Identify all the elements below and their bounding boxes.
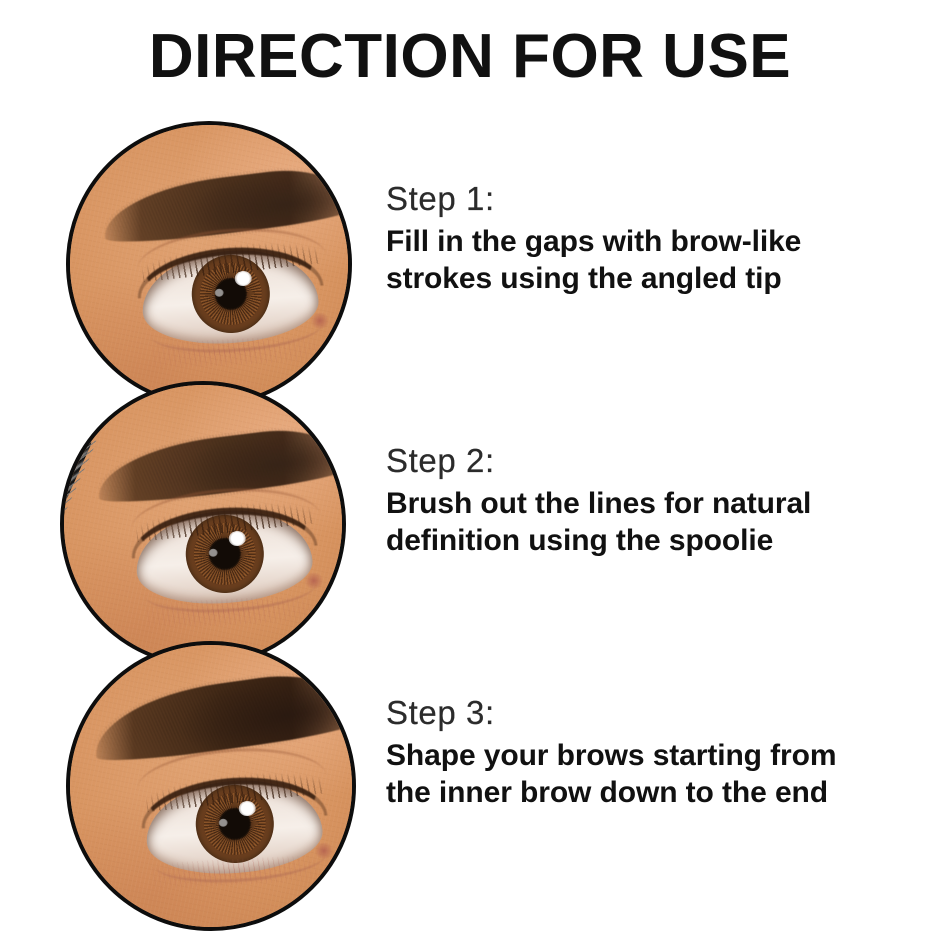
- step-3-text-block: Step 3: Shape your brows starting from t…: [386, 693, 906, 812]
- step-3-label: Step 3:: [386, 693, 906, 733]
- eye: [139, 245, 321, 349]
- step-3-description-line-2: the inner brow down to the end: [386, 774, 906, 811]
- step-1-label: Step 1:: [386, 179, 906, 219]
- page-title: DIRECTION FOR USE: [0, 26, 940, 88]
- step-3-description: Shape your brows starting from the inner…: [386, 737, 906, 811]
- step-2-text-block: Step 2: Brush out the lines for natural …: [386, 441, 906, 560]
- step-1-photo-circle: [66, 121, 352, 407]
- step-2-description-line-1: Brush out the lines for natural: [386, 485, 906, 522]
- step-2-description: Brush out the lines for natural definiti…: [386, 485, 906, 559]
- step-2-label: Step 2:: [386, 441, 906, 481]
- step-3-photo-circle: [66, 641, 356, 931]
- step-2-description-line-2: definition using the spoolie: [386, 522, 906, 559]
- step-row-2: Step 2: Brush out the lines for natural …: [0, 381, 940, 667]
- step-row-1: Step 1: Fill in the gaps with brow-like …: [0, 121, 940, 407]
- step-3-description-line-1: Shape your brows starting from: [386, 737, 906, 774]
- step-2-photo-circle: [60, 381, 346, 667]
- eye: [133, 505, 315, 609]
- step-1-description: Fill in the gaps with brow-like strokes …: [386, 223, 906, 297]
- step-row-3: Step 3: Shape your brows starting from t…: [0, 641, 940, 927]
- step-1-text-block: Step 1: Fill in the gaps with brow-like …: [386, 179, 906, 298]
- step-1-description-line-2: strokes using the angled tip: [386, 260, 906, 297]
- step-1-description-line-1: Fill in the gaps with brow-like: [386, 223, 906, 260]
